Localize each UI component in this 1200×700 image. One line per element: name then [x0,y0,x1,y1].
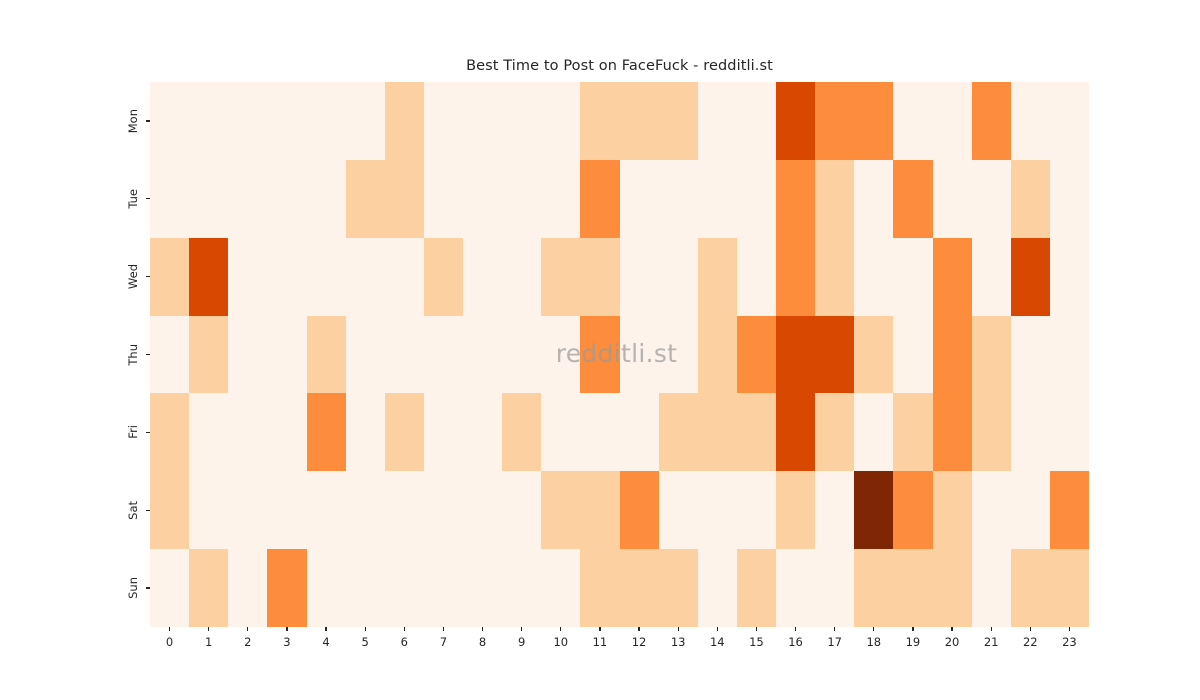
heatmap-cell [150,471,189,549]
heatmap-cell [815,160,854,238]
x-axis-tick-mark [912,627,913,631]
heatmap-cell [150,238,189,316]
heatmap-cell [776,82,815,160]
heatmap-cell [346,393,385,471]
x-axis-tick: 23 [1050,627,1089,649]
heatmap-cell [620,238,659,316]
x-axis-tick: 20 [933,627,972,649]
x-axis-tick-mark [834,627,835,631]
heatmap-cell [267,316,306,394]
heatmap-cell [541,160,580,238]
heatmap-cell [463,316,502,394]
x-axis-tick-label: 16 [788,635,803,649]
heatmap-cell [698,549,737,627]
heatmap-cell [933,549,972,627]
y-axis-tick-label: Sun [128,577,140,599]
heatmap-cell [893,82,932,160]
heatmap-cell [189,549,228,627]
heatmap-cell [385,238,424,316]
heatmap-cell [385,549,424,627]
heatmap-cell [150,316,189,394]
heatmap-cell [267,82,306,160]
heatmap-cell [854,238,893,316]
x-axis-tick-label: 1 [205,635,212,649]
heatmap-cell [189,160,228,238]
x-axis-tick-label: 18 [866,635,881,649]
x-axis-tick-mark [247,627,248,631]
heatmap-cell [307,82,346,160]
x-axis-tick: 11 [580,627,619,649]
y-axis-tick: Tue [0,160,150,238]
x-axis-tick-label: 10 [553,635,568,649]
heatmap-cell [698,82,737,160]
heatmap-cell [463,471,502,549]
x-axis-tick: 19 [893,627,932,649]
x-axis-tick-label: 22 [1023,635,1038,649]
heatmap-cell [307,160,346,238]
heatmap-cell [698,393,737,471]
x-axis-tick: 2 [228,627,267,649]
heatmap-cell [698,316,737,394]
heatmap-cell [972,160,1011,238]
heatmap-cell [385,160,424,238]
x-axis-tick-label: 15 [749,635,764,649]
heatmap-cell [424,316,463,394]
heatmap-cell [776,549,815,627]
x-axis-tick: 18 [854,627,893,649]
heatmap-cell [580,316,619,394]
x-axis-tick: 1 [189,627,228,649]
heatmap-cell [580,238,619,316]
y-axis-tick-mark [146,354,150,355]
heatmap-cell [972,471,1011,549]
heatmap-cell [620,471,659,549]
heatmap-cell [737,471,776,549]
heatmap-cell [893,160,932,238]
x-axis-tick: 21 [972,627,1011,649]
heatmap-cell [307,393,346,471]
heatmap-cell [189,393,228,471]
heatmap-cell [659,549,698,627]
heatmap-cell [150,82,189,160]
x-axis-tick: 16 [776,627,815,649]
x-axis-tick: 4 [307,627,346,649]
y-axis-tick: Thu [0,316,150,394]
x-axis-tick-mark [795,627,796,631]
x-axis-tick-label: 4 [322,635,329,649]
x-axis-tick-mark [365,627,366,631]
heatmap-cell [972,316,1011,394]
x-axis-tick-mark [678,627,679,631]
heatmap-cell [659,393,698,471]
x-axis: 01234567891011121314151617181920212223 [150,627,1089,667]
heatmap-cell [502,82,541,160]
heatmap-cell [972,393,1011,471]
x-axis-tick-mark [638,627,639,631]
heatmap-cell [893,471,932,549]
heatmap-cell [346,549,385,627]
heatmap-cell [737,393,776,471]
x-axis-tick: 6 [385,627,424,649]
x-axis-tick-mark [169,627,170,631]
heatmap-cell [463,393,502,471]
heatmap-cell [346,160,385,238]
heatmap-cell [815,393,854,471]
heatmap-cell [502,316,541,394]
heatmap-cell [228,471,267,549]
x-axis-tick-label: 12 [632,635,647,649]
x-axis-tick: 7 [424,627,463,649]
heatmap-cell [541,82,580,160]
heatmap-cell [541,393,580,471]
x-axis-tick: 15 [737,627,776,649]
y-axis-tick-label: Fri [128,425,140,439]
x-axis-tick: 12 [620,627,659,649]
x-axis-tick-mark [873,627,874,631]
x-axis-tick-mark [951,627,952,631]
heatmap-cell [346,82,385,160]
heatmap-cell [228,82,267,160]
heatmap-cell [580,82,619,160]
y-axis-tick-label: Thu [128,344,140,366]
heatmap-cell [228,393,267,471]
heatmap-cell [659,160,698,238]
heatmap-cell [854,471,893,549]
x-axis-tick: 17 [815,627,854,649]
heatmap-cell [1011,471,1050,549]
x-axis-tick-label: 2 [244,635,251,649]
heatmap-cell [659,316,698,394]
heatmap-cell [776,471,815,549]
x-axis-tick-label: 17 [827,635,842,649]
heatmap-cell [385,393,424,471]
heatmap-cell [1011,316,1050,394]
heatmap-cell [1011,238,1050,316]
heatmap-cell [1011,393,1050,471]
y-axis-tick-label: Sat [128,501,140,520]
heatmap-cell [267,238,306,316]
heatmap-cell [1050,393,1089,471]
x-axis-tick: 13 [659,627,698,649]
heatmap-cell [698,238,737,316]
x-axis-tick-label: 19 [906,635,921,649]
heatmap-cell [815,471,854,549]
y-axis-tick-mark [146,587,150,588]
x-axis-tick-mark [404,627,405,631]
heatmap-cell [854,160,893,238]
x-axis-tick-mark [286,627,287,631]
heatmap-cell [424,549,463,627]
heatmap-cell [1011,160,1050,238]
heatmap-cell [150,393,189,471]
heatmap-cell [580,160,619,238]
y-axis-tick-label: Wed [128,264,140,289]
heatmap-cell [424,160,463,238]
heatmap-cell [815,316,854,394]
heatmap-cell [189,238,228,316]
x-axis-tick-label: 9 [518,635,525,649]
heatmap-cell [1050,82,1089,160]
heatmap-cell [659,238,698,316]
heatmap-cell [815,549,854,627]
y-axis-tick: Wed [0,238,150,316]
y-axis-tick: Mon [0,82,150,160]
heatmap-cell [972,549,1011,627]
heatmap-cell [502,393,541,471]
x-axis-tick-mark [1069,627,1070,631]
heatmap-cell [659,82,698,160]
heatmap-cell [776,393,815,471]
y-axis-tick-mark [146,120,150,121]
x-axis-tick-mark [560,627,561,631]
heatmap-cell [267,549,306,627]
x-axis-tick-mark [521,627,522,631]
heatmap-cell [972,238,1011,316]
heatmap-cell [307,471,346,549]
heatmap-cell [1050,549,1089,627]
x-axis-tick-mark [756,627,757,631]
x-axis-tick-label: 11 [593,635,608,649]
y-axis-tick-mark [146,432,150,433]
x-axis-tick: 3 [267,627,306,649]
figure-canvas: Best Time to Post on FaceFuck - redditli… [0,0,1200,700]
heatmap-cell [698,471,737,549]
heatmap-cell [346,316,385,394]
heatmap-cell [424,393,463,471]
heatmap-cell [776,160,815,238]
heatmap-cell [737,238,776,316]
heatmap-cell [620,82,659,160]
x-axis-tick-label: 23 [1062,635,1077,649]
heatmap-cell [933,471,972,549]
heatmap-cell [854,82,893,160]
heatmap-cell [228,238,267,316]
heatmap-cell [502,471,541,549]
heatmap-cell [228,316,267,394]
heatmap-cell [893,316,932,394]
page-title: Best Time to Post on FaceFuck - redditli… [150,58,1089,74]
x-axis-tick-label: 20 [945,635,960,649]
heatmap-cell [659,471,698,549]
x-axis-tick-mark [717,627,718,631]
heatmap-cell [307,238,346,316]
heatmap-cell [1050,160,1089,238]
x-axis-tick: 5 [346,627,385,649]
x-axis-tick-mark [482,627,483,631]
heatmap-cell [189,471,228,549]
heatmap-cell [580,393,619,471]
heatmap-cell [737,549,776,627]
heatmap-cell [620,160,659,238]
heatmap-cell [1050,316,1089,394]
x-axis-tick: 14 [698,627,737,649]
heatmap-cell [541,549,580,627]
x-axis-tick-label: 21 [984,635,999,649]
heatmap-cell [228,549,267,627]
heatmap-cell [502,549,541,627]
heatmap-grid [150,82,1089,627]
heatmap-cell [463,549,502,627]
y-axis-tick: Fri [0,393,150,471]
heatmap-cell [189,82,228,160]
heatmap-cell [893,393,932,471]
heatmap-cell [815,238,854,316]
heatmap-cell [1011,82,1050,160]
heatmap-cell [776,316,815,394]
x-axis-tick: 22 [1011,627,1050,649]
heatmap-cell [502,160,541,238]
y-axis-tick: Sun [0,549,150,627]
heatmap-cell [933,238,972,316]
heatmap-cell [463,238,502,316]
heatmap-cell [267,471,306,549]
heatmap-cell [502,238,541,316]
x-axis-tick: 10 [541,627,580,649]
x-axis-tick-label: 3 [283,635,290,649]
heatmap-cell [150,160,189,238]
heatmap-plot-area: redditli.st [150,82,1089,627]
y-axis-tick-mark [146,198,150,199]
heatmap-cell [1050,238,1089,316]
heatmap-cell [620,316,659,394]
x-axis-tick-mark [208,627,209,631]
heatmap-cell [463,160,502,238]
y-axis: MonTueWedThuFriSatSun [0,82,150,627]
heatmap-cell [267,393,306,471]
heatmap-cell [424,238,463,316]
heatmap-cell [307,316,346,394]
heatmap-cell [893,549,932,627]
heatmap-cell [698,160,737,238]
heatmap-cell [267,160,306,238]
heatmap-cell [424,471,463,549]
x-axis-tick-label: 5 [362,635,369,649]
y-axis-tick-mark [146,276,150,277]
x-axis-tick-mark [599,627,600,631]
heatmap-cell [307,549,346,627]
x-axis-tick-mark [991,627,992,631]
y-axis-tick: Sat [0,471,150,549]
heatmap-cell [346,238,385,316]
x-axis-tick: 0 [150,627,189,649]
y-axis-tick-label: Mon [128,109,140,133]
heatmap-cell [580,549,619,627]
heatmap-cell [580,471,619,549]
x-axis-tick-mark [325,627,326,631]
x-axis-tick-label: 8 [479,635,486,649]
x-axis-tick-label: 13 [671,635,686,649]
heatmap-cell [972,82,1011,160]
heatmap-cell [933,393,972,471]
x-axis-tick: 9 [502,627,541,649]
heatmap-cell [385,471,424,549]
y-axis-tick-mark [146,510,150,511]
x-axis-tick-label: 14 [710,635,725,649]
x-axis-tick-label: 0 [166,635,173,649]
heatmap-cell [424,82,463,160]
heatmap-cell [541,316,580,394]
heatmap-cell [854,316,893,394]
x-axis-tick-label: 6 [401,635,408,649]
heatmap-cell [385,82,424,160]
heatmap-cell [189,316,228,394]
heatmap-cell [385,316,424,394]
heatmap-cell [620,393,659,471]
x-axis-tick: 8 [463,627,502,649]
heatmap-cell [854,393,893,471]
heatmap-cell [541,238,580,316]
heatmap-cell [1050,471,1089,549]
heatmap-cell [463,82,502,160]
heatmap-cell [346,471,385,549]
heatmap-cell [933,82,972,160]
heatmap-cell [776,238,815,316]
heatmap-cell [737,82,776,160]
heatmap-cell [893,238,932,316]
x-axis-tick-mark [1030,627,1031,631]
heatmap-cell [1011,549,1050,627]
heatmap-cell [854,549,893,627]
y-axis-tick-label: Tue [128,189,140,209]
heatmap-cell [620,549,659,627]
heatmap-cell [933,316,972,394]
x-axis-tick-mark [443,627,444,631]
heatmap-cell [737,160,776,238]
heatmap-cell [815,82,854,160]
heatmap-cell [737,316,776,394]
heatmap-cell [228,160,267,238]
x-axis-tick-label: 7 [440,635,447,649]
heatmap-cell [541,471,580,549]
heatmap-cell [150,549,189,627]
heatmap-cell [933,160,972,238]
